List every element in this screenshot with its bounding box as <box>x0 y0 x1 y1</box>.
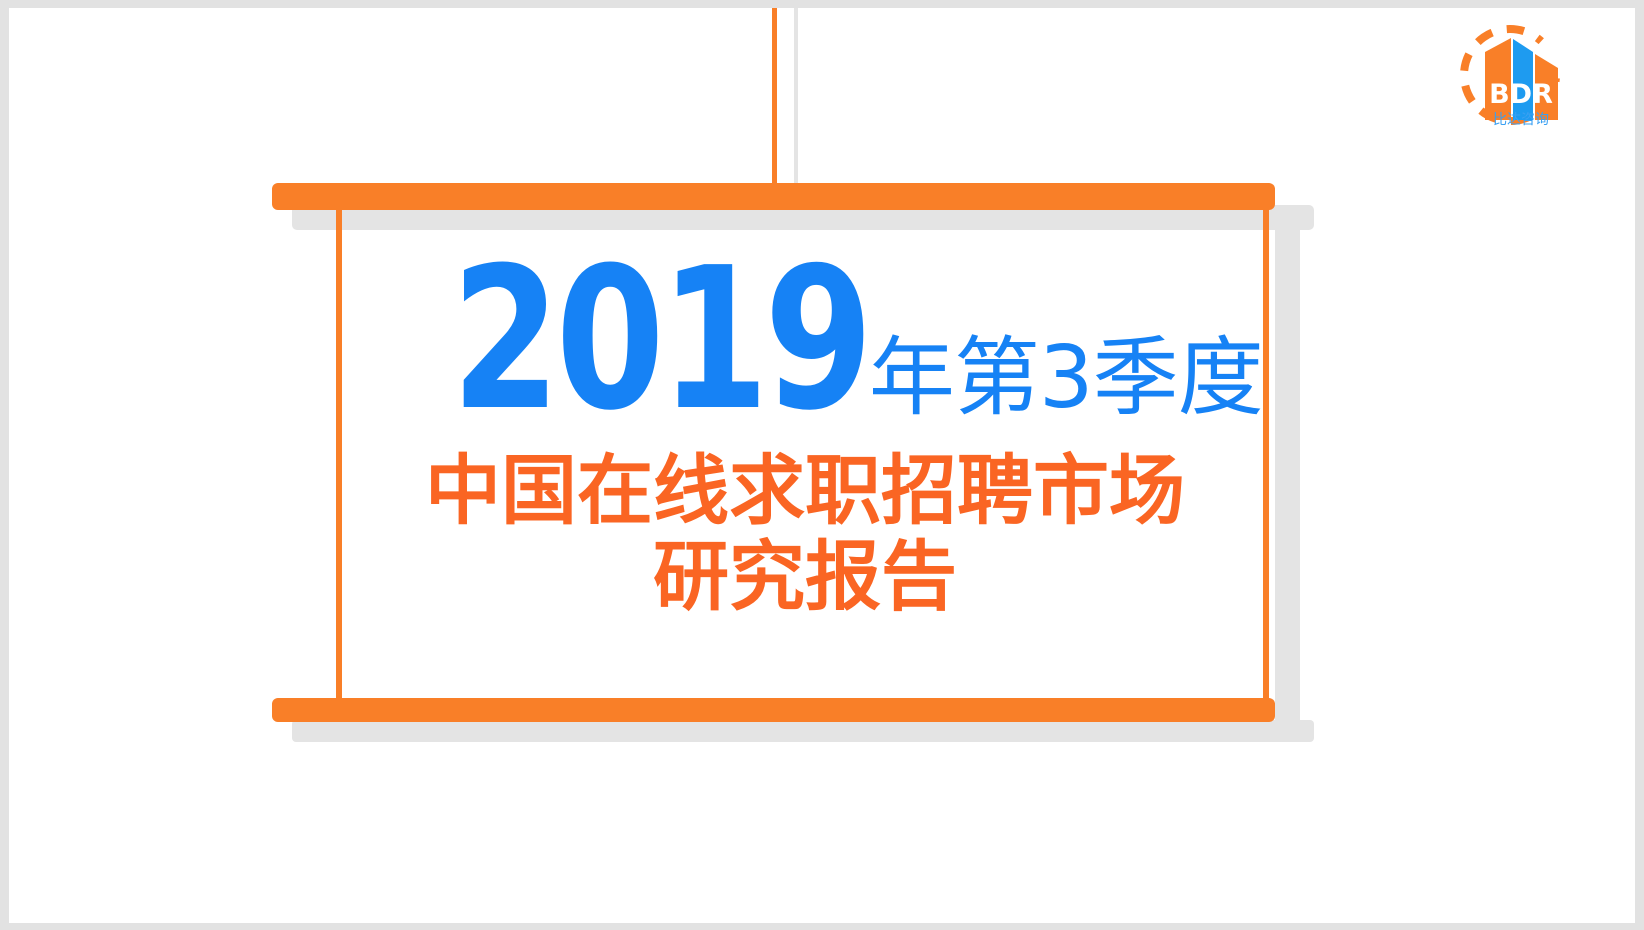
logo-wordmark: BDR <box>1489 79 1553 110</box>
frame-right-post-shadow <box>1275 213 1300 728</box>
bdr-logo: BDR 比达咨询 <box>1455 20 1565 130</box>
vertical-gray-rule-decoration <box>794 8 798 186</box>
slide-title-block: 2019年第3季度 中国在线求职招聘市场 研究报告 <box>345 242 1265 620</box>
orange-frame-top-bar <box>272 183 1275 210</box>
vertical-orange-rule-decoration <box>772 8 777 186</box>
headline-quarter: 年第3季度 <box>869 328 1263 428</box>
subtitle-line-2: 研究报告 <box>345 534 1265 620</box>
slide-canvas: 2019年第3季度 中国在线求职招聘市场 研究报告 <box>9 8 1635 923</box>
slide-subtitle: 中国在线求职招聘市场 研究报告 <box>345 448 1265 620</box>
slide-viewer: 2019年第3季度 中国在线求职招聘市场 研究报告 <box>0 0 1644 930</box>
headline-row: 2019年第3季度 <box>345 242 1265 438</box>
headline-year: 2019 <box>452 242 869 438</box>
subtitle-line-1: 中国在线求职招聘市场 <box>345 448 1265 534</box>
frame-bottom-bar-shadow <box>292 720 1314 742</box>
logo-company-name: 比达咨询 <box>1493 112 1549 128</box>
orange-frame-bottom-bar <box>272 698 1275 722</box>
bdr-logo-icon: BDR 比达咨询 <box>1455 20 1565 130</box>
orange-frame-left-post <box>336 206 342 702</box>
